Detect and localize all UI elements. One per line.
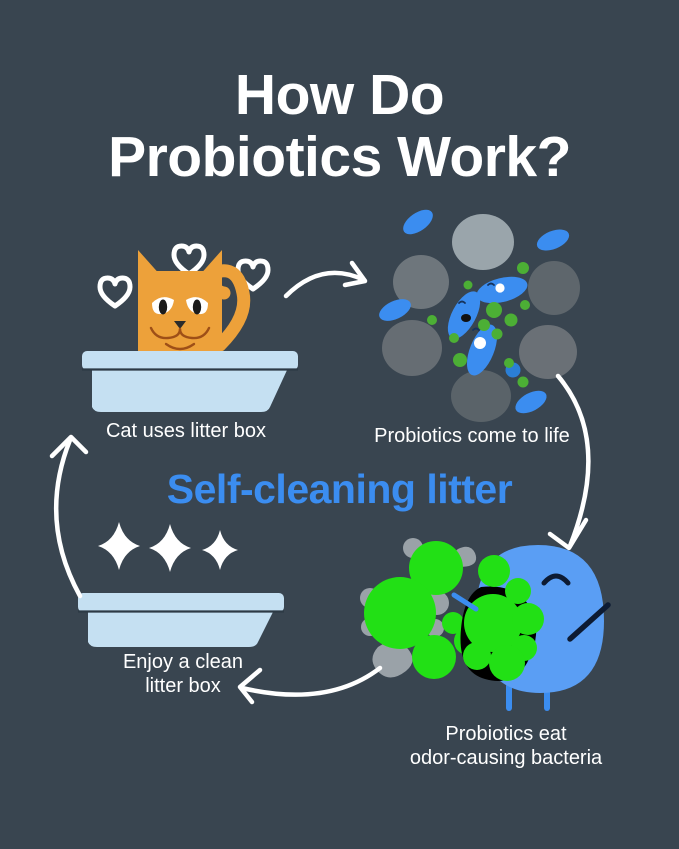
illustration-probiotic-eating-bacteria xyxy=(358,535,614,715)
sparkle-icon xyxy=(98,522,238,572)
title-line-1: How Do xyxy=(0,66,679,124)
caption-probiotics-eat-bacteria: Probiotics eat odor-causing bacteria xyxy=(370,722,642,771)
arrow-clean-to-cat-icon xyxy=(44,428,114,603)
caption-clean-line-2: litter box xyxy=(145,675,221,697)
caption-eat-line-1: Probiotics eat xyxy=(445,723,566,745)
litter-box-rim xyxy=(82,351,298,370)
illustration-cat-in-litter-box xyxy=(70,225,310,415)
infographic-canvas: How Do Probiotics Work? xyxy=(0,0,679,849)
arrow-eating-to-clean-icon xyxy=(228,640,388,710)
title-line-2: Probiotics Work? xyxy=(0,128,679,186)
caption-clean-line-1: Enjoy a clean xyxy=(123,651,243,673)
page-title: How Do Probiotics Work? xyxy=(0,66,679,186)
probiotic-character xyxy=(454,545,608,711)
litter-box-basin xyxy=(92,368,288,412)
caption-eat-line-2: odor-causing bacteria xyxy=(410,747,602,769)
arrow-cat-to-probiotics-icon xyxy=(282,252,377,302)
